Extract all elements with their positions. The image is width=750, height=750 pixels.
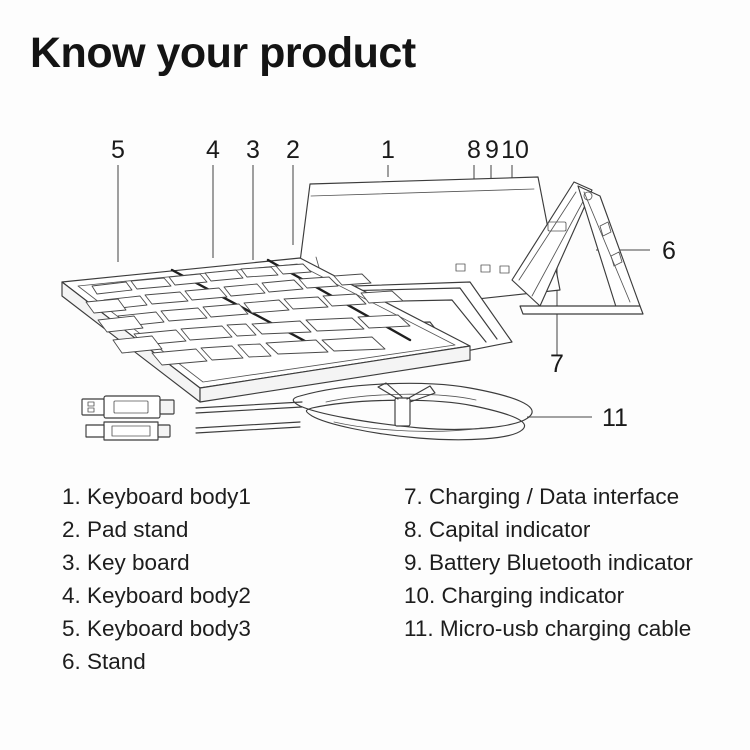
legend-item-9: 9. Battery Bluetooth indicator xyxy=(404,546,693,579)
callout-1: 1 xyxy=(381,136,395,164)
callout-10: 10 xyxy=(501,136,529,164)
legend-item-4: 4. Keyboard body2 xyxy=(62,579,251,612)
callout-4: 4 xyxy=(206,136,220,164)
legend-item-7: 7. Charging / Data interface xyxy=(404,480,693,513)
callout-2: 2 xyxy=(286,136,300,164)
callout-7: 7 xyxy=(550,350,564,378)
legend-column-left: 1. Keyboard body1 2. Pad stand 3. Key bo… xyxy=(62,480,251,678)
page-title: Know your product xyxy=(30,30,416,77)
legend-item-11: 11. Micro-usb charging cable xyxy=(404,612,693,645)
callout-5: 5 xyxy=(111,136,125,164)
callout-9: 9 xyxy=(485,136,499,164)
micro-usb-connector xyxy=(86,422,170,440)
legend-item-8: 8. Capital indicator xyxy=(404,513,693,546)
legend-item-6: 6. Stand xyxy=(62,645,251,678)
product-diagram-page: Know your product xyxy=(0,0,750,750)
legend-item-2: 2. Pad stand xyxy=(62,513,251,546)
callout-8: 8 xyxy=(467,136,481,164)
legend-item-1: 1. Keyboard body1 xyxy=(62,480,251,513)
callout-3: 3 xyxy=(246,136,260,164)
legend-item-5: 5. Keyboard body3 xyxy=(62,612,251,645)
legend-item-3: 3. Key board xyxy=(62,546,251,579)
legend-item-10: 10. Charging indicator xyxy=(404,579,693,612)
legend-column-right: 7. Charging / Data interface 8. Capital … xyxy=(404,480,693,645)
micro-usb-charging-cable xyxy=(82,383,532,440)
usb-a-connector xyxy=(82,396,174,418)
callout-11: 11 xyxy=(602,404,628,432)
cable-tie xyxy=(378,383,435,426)
callout-6: 6 xyxy=(662,237,676,265)
product-diagram: 5 4 3 2 1 8 9 10 6 7 11 xyxy=(0,110,750,470)
